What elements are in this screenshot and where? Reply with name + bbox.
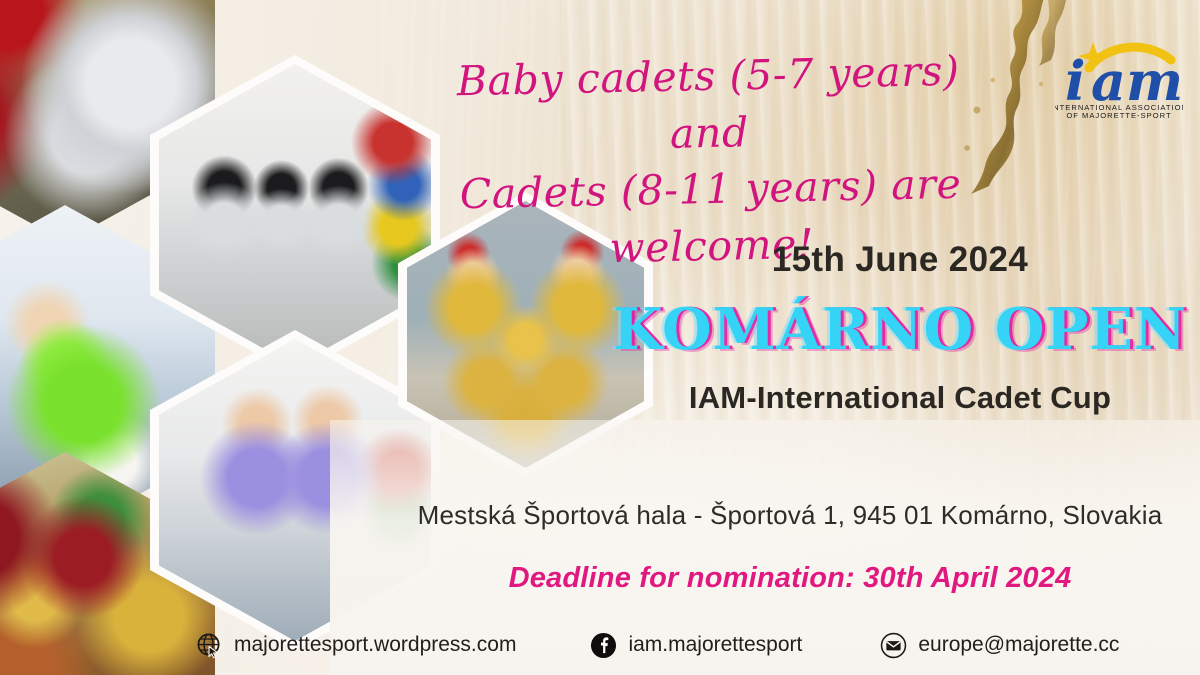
logo-tagline-line2: OF MAJORETTE-SPORT (1066, 111, 1171, 120)
venue-address: Mestská Športová hala - Športová 1, 945 … (380, 500, 1200, 531)
contact-website[interactable]: majorettesport.wordpress.com (196, 632, 516, 659)
event-date: 15th June 2024 (600, 240, 1200, 280)
website-label: majorettesport.wordpress.com (234, 633, 516, 657)
contact-facebook[interactable]: iam.majorettesport (590, 632, 802, 659)
poster-canvas: i am INTERNATIONAL ASSOCIATION OF MAJORE… (0, 0, 1200, 675)
email-label: europe@majorette.cc (918, 633, 1119, 657)
facebook-label: iam.majorettesport (628, 633, 802, 657)
contact-email[interactable]: europe@majorette.cc (880, 632, 1119, 659)
globe-icon (196, 632, 223, 659)
headline-line-1: Baby cadets (5-7 years) and (456, 47, 960, 158)
envelope-icon (880, 632, 907, 659)
event-title: KOMÁRNO OPEN (600, 296, 1200, 363)
iam-logo: i am INTERNATIONAL ASSOCIATION OF MAJORE… (1055, 22, 1183, 120)
nomination-deadline: Deadline for nomination: 30th April 2024 (380, 562, 1200, 595)
facebook-icon (590, 632, 617, 659)
event-subtitle: IAM-International Cadet Cup (600, 380, 1200, 416)
contact-footer: majorettesport.wordpress.com iam.majoret… (0, 615, 1200, 675)
